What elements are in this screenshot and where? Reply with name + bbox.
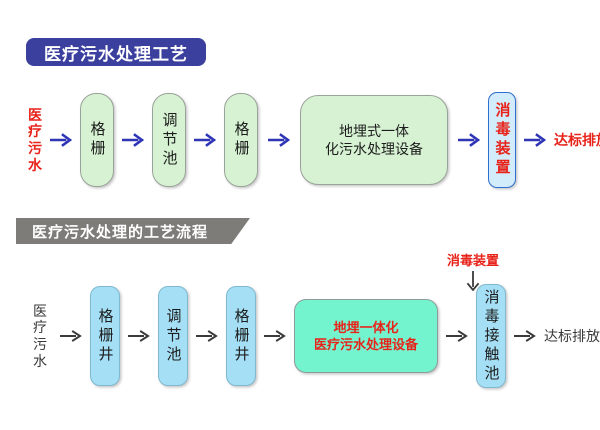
node-grille-well-1[interactable]: 格栅井 [90, 286, 120, 386]
section1-title-text: 医疗污水处理工艺 [44, 40, 188, 65]
flow1-outlet-label: 达标排放 [554, 132, 600, 149]
node-label: 格栅井 [98, 308, 113, 365]
arrow-right-icon [50, 133, 72, 147]
flow2-outlet-label: 达标排放 [544, 328, 600, 345]
arrow-right-icon [446, 329, 468, 343]
node-label: 消毒装置 [495, 102, 510, 178]
section2-title-text: 医疗污水处理的工艺流程 [16, 221, 208, 242]
node-label: 调节池 [166, 308, 181, 365]
node-label: 格栅 [90, 121, 105, 159]
node-label: 格栅井 [234, 308, 249, 365]
node-equalization-tank[interactable]: 调节池 [152, 93, 186, 187]
node-buried-integrated-equipment[interactable]: 地埋一体化 医疗污水处理设备 [294, 299, 438, 373]
node-label: 地埋一体化 医疗污水处理设备 [314, 319, 418, 353]
arrow-right-icon [194, 133, 216, 147]
node-disinfection-device[interactable]: 消毒装置 [488, 92, 516, 188]
node-label: 格栅 [234, 121, 249, 159]
arrow-right-icon [514, 329, 536, 343]
node-buried-integrated-equipment[interactable]: 地埋式一体 化污水处理设备 [300, 95, 448, 185]
node-disinfection-contact-tank[interactable]: 消毒接触池 [476, 284, 506, 388]
arrow-right-icon [60, 329, 82, 343]
arrow-right-icon [458, 133, 480, 147]
section2-title-banner: 医疗污水处理的工艺流程 [16, 218, 250, 244]
arrow-right-icon [122, 133, 144, 147]
node-grille-2[interactable]: 格栅 [224, 93, 258, 187]
arrow-right-icon [128, 329, 150, 343]
node-label: 调节池 [162, 112, 177, 169]
node-grille-well-2[interactable]: 格栅井 [226, 286, 256, 386]
node-label: 地埋式一体 化污水处理设备 [325, 122, 423, 159]
process-flow-row-1: 医疗 污水 格栅 调节池 格栅 地埋式一体 化污水处理设备 消毒装置 [28, 86, 600, 194]
section1-title-banner: 医疗污水处理工艺 [26, 38, 206, 66]
flow2-inlet-label: 医疗 污水 [28, 303, 52, 369]
flow1-inlet-label: 医疗 污水 [28, 107, 42, 173]
node-equalization-tank[interactable]: 调节池 [158, 286, 188, 386]
node-label: 消毒接触池 [484, 289, 499, 384]
arrow-right-icon [268, 133, 290, 147]
node-grille-1[interactable]: 格栅 [80, 93, 114, 187]
arrow-right-icon [524, 133, 546, 147]
arrow-right-icon [264, 329, 286, 343]
arrow-right-icon [196, 329, 218, 343]
annotation-label: 消毒装置 [447, 250, 499, 269]
process-flow-row-2: 医疗 污水 格栅井 调节池 格栅井 地埋一体化 医疗污水处理设备 消毒接触池 [28, 282, 600, 390]
